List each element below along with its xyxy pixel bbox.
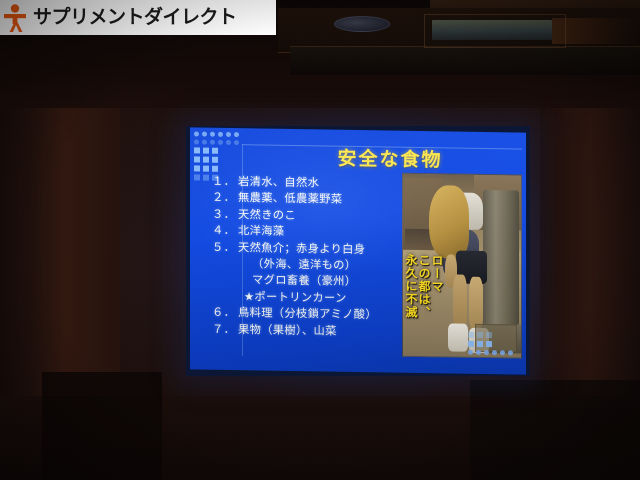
list-item-text: 鳥料理（分枝鎖アミノ酸） xyxy=(238,306,377,321)
list-item-text: 天然魚介；赤身より白身 xyxy=(238,241,365,256)
dark-panel-bottom-right xyxy=(470,380,640,480)
photo-vertical-text-column: この都は、 xyxy=(418,254,430,319)
slide-body-list: １．岩清水、自然水 ２．無農薬、低農薬野菜 ３．天然きのこ ４．北洋海藻 ５．天… xyxy=(212,174,424,341)
header-banner: サプリメントダイレクト xyxy=(0,0,276,35)
orange-person-icon xyxy=(2,3,30,33)
ceiling-glow xyxy=(552,18,640,44)
photo-figure-leg xyxy=(469,277,483,330)
slide-decoration-bottom-right xyxy=(468,332,524,373)
list-item-text: 無農薬、低農薬野菜 xyxy=(238,192,342,207)
slide-photo: ローマ この都は、 永久に不滅 xyxy=(402,173,522,359)
list-item-number: ７． xyxy=(212,321,238,338)
photo-vertical-text-column: 永久に不滅 xyxy=(405,254,417,319)
list-item: ５．天然魚介；赤身より白身 xyxy=(212,239,424,259)
list-item-number: ５． xyxy=(212,239,238,256)
photo-figure-hair xyxy=(429,185,469,258)
brand-name: サプリメントダイレクト xyxy=(33,8,237,27)
list-item-text: 果物（果樹）、山菜 xyxy=(238,323,337,338)
list-item: ７．果物（果樹）、山菜 xyxy=(212,321,424,341)
list-item-number: １． xyxy=(212,174,238,191)
list-item-number: ６． xyxy=(212,305,238,322)
list-item-number: ２． xyxy=(212,190,238,207)
photo-vertical-text-column: ローマ xyxy=(431,254,443,319)
slide-title: 安全な食物 xyxy=(270,143,510,174)
screenshot-root: 安全な食物 １．岩清水、自然水 ２．無農薬、低農薬野菜 ３．天然きのこ ４．北洋… xyxy=(0,0,640,480)
photo-figure-leg xyxy=(453,275,467,330)
list-item-text: 岩清水、自然水 xyxy=(238,175,319,189)
photo-fountain xyxy=(483,190,518,347)
photo-vertical-text: ローマ この都は、 永久に不滅 xyxy=(405,254,443,320)
photo-figure-boot xyxy=(448,324,468,352)
speaker-grille-icon xyxy=(334,16,390,32)
list-item-number: ３． xyxy=(212,207,238,224)
presentation-slide: 安全な食物 １．岩清水、自然水 ２．無農薬、低農薬野菜 ３．天然きのこ ４．北洋… xyxy=(190,127,526,374)
list-item-number: ４． xyxy=(212,223,238,240)
dark-panel-bottom-left xyxy=(42,372,162,480)
list-item-text: 天然きのこ xyxy=(238,208,296,222)
list-item-text: 北洋海藻 xyxy=(238,224,284,238)
ceiling-beam-lower xyxy=(290,46,640,75)
recessed-light xyxy=(432,20,552,40)
